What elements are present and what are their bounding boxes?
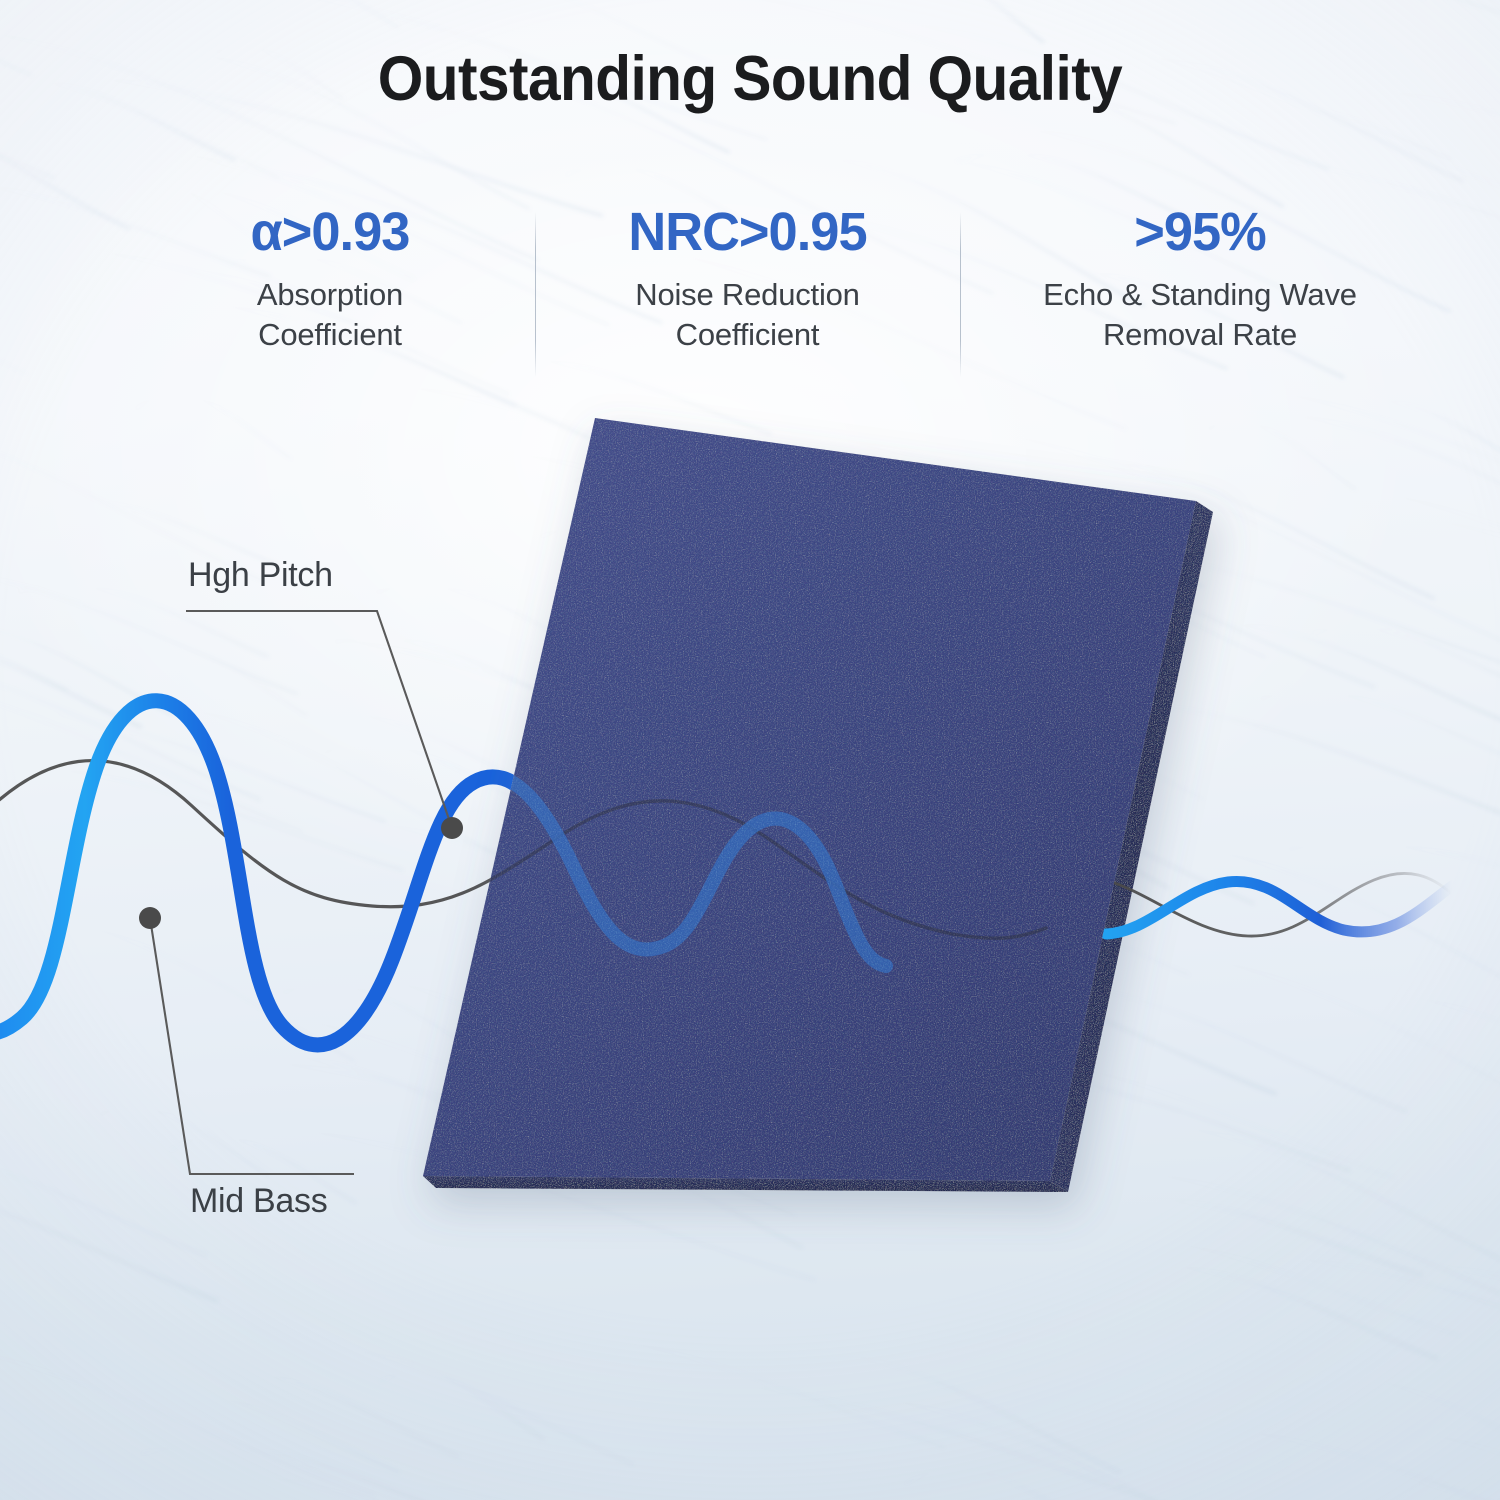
waves-outgoing [1106,873,1452,936]
wave-high-pitch-outgoing [1106,881,1452,934]
stat-label-line2: Coefficient [130,315,530,355]
stats-row: α>0.93 Absorption Coefficient NRC>0.95 N… [0,205,1500,390]
stat-value: NRC>0.95 [551,205,944,259]
stat-value: >95% [972,205,1428,259]
stat-label-line1: Noise Reduction [545,275,950,315]
dot-high-pitch [441,817,463,839]
stat-label-line2: Removal Rate [965,315,1435,355]
stat-label-line2: Coefficient [545,315,950,355]
stat-label-line1: Echo & Standing Wave [965,275,1435,315]
callout-label-mid-bass: Mid Bass [190,1182,327,1221]
stat-label: Absorption Coefficient [130,275,530,356]
stat-label-line1: Absorption [130,275,530,315]
callout-label-high-pitch: Hgh Pitch [188,556,333,595]
stat-noise-reduction-coefficient: NRC>0.95 Noise Reduction Coefficient [545,205,950,356]
stat-absorption-coefficient: α>0.93 Absorption Coefficient [130,205,530,356]
stat-label: Noise Reduction Coefficient [545,275,950,356]
page-title: Outstanding Sound Quality [53,46,1448,112]
stat-divider-1 [535,212,536,377]
stat-value: α>0.93 [136,205,524,259]
dot-mid-bass [139,907,161,929]
stat-divider-2 [960,212,961,377]
stat-label: Echo & Standing Wave Removal Rate [965,275,1435,356]
stat-echo-removal-rate: >95% Echo & Standing Wave Removal Rate [965,205,1435,356]
